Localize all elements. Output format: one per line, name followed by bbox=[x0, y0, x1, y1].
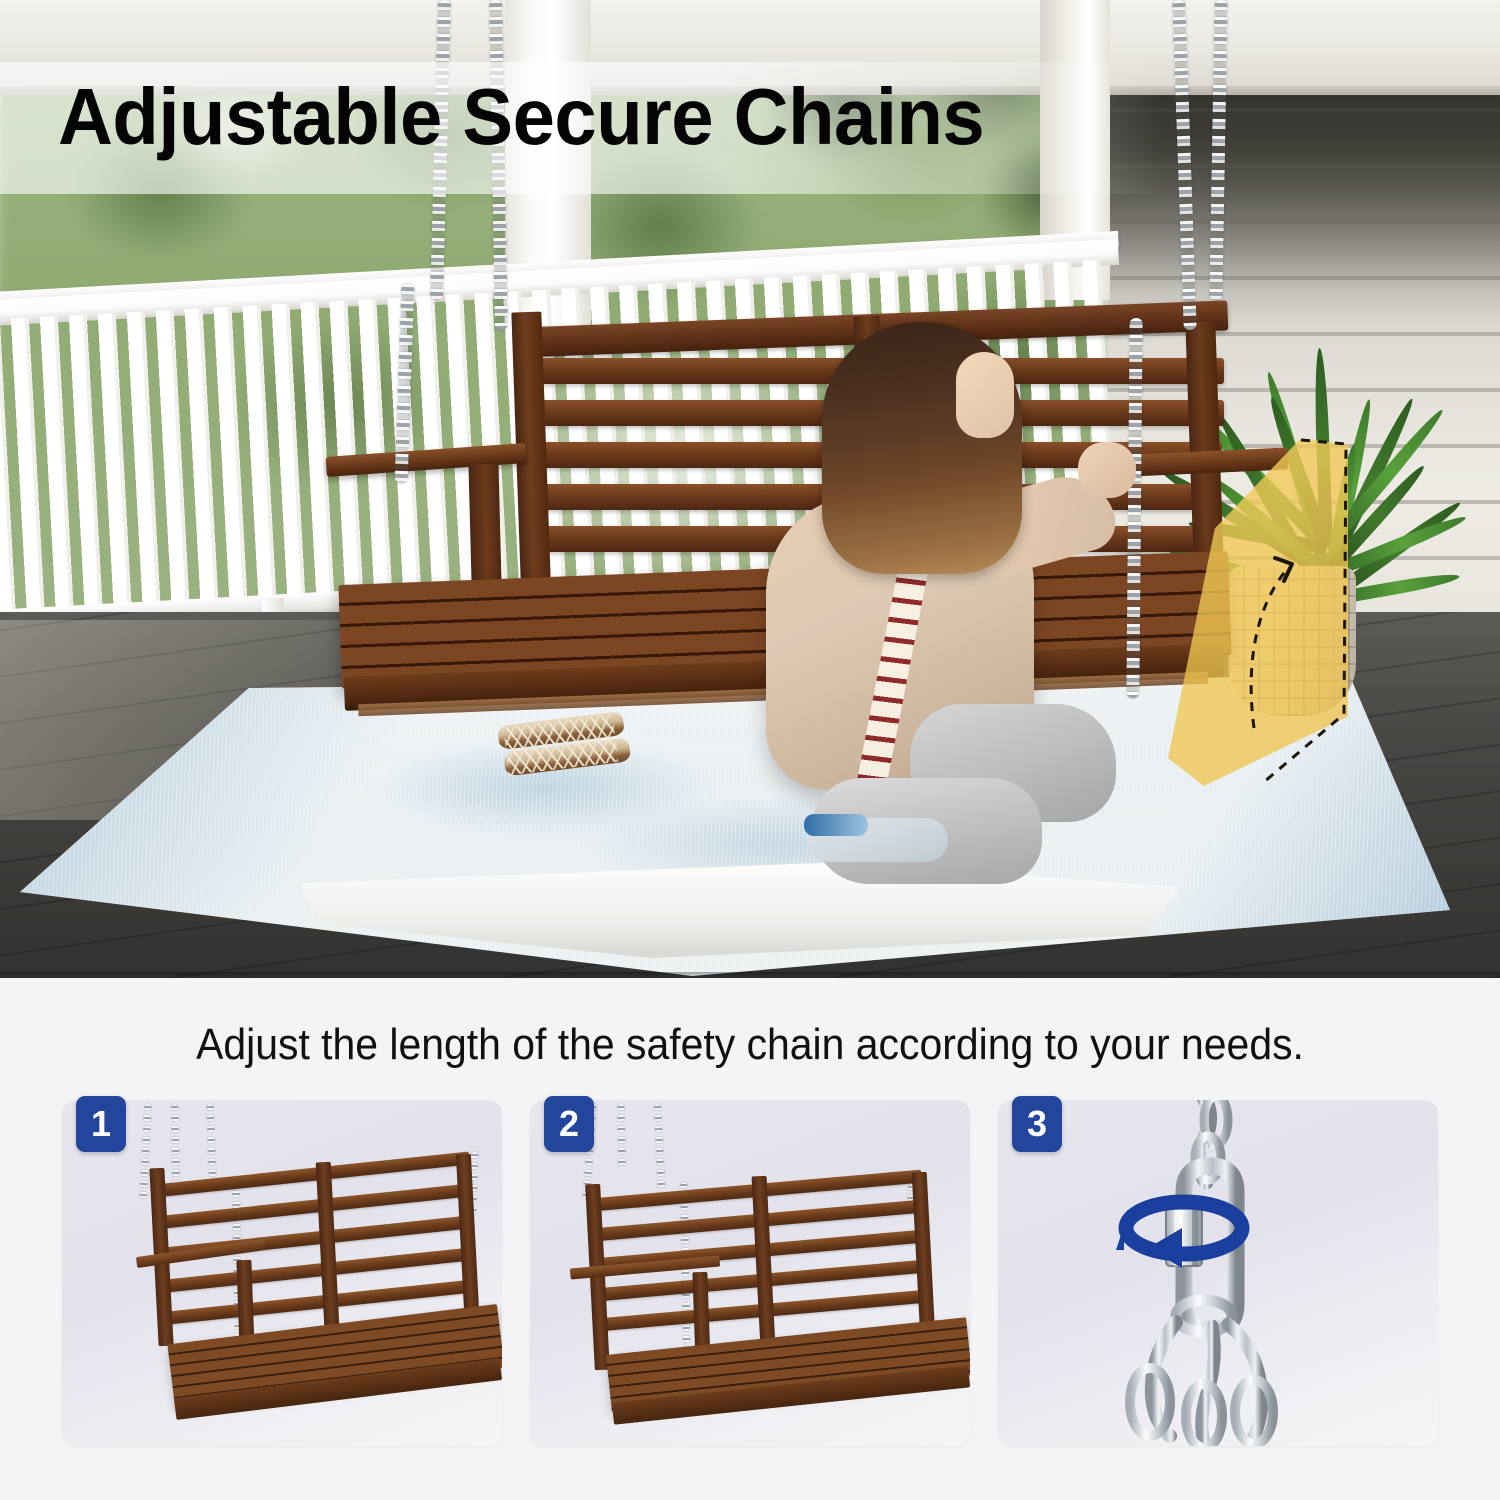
step-1-image bbox=[62, 1100, 502, 1446]
person-adjusting-chain bbox=[760, 318, 1120, 898]
instruction-section: Adjust the length of the safety chain ac… bbox=[0, 978, 1500, 1500]
product-marketing-image: Adjustable Secure Chains Adjust the leng… bbox=[0, 0, 1500, 1500]
mini-porch-swing bbox=[530, 1100, 970, 1446]
instruction-caption: Adjust the length of the safety chain ac… bbox=[53, 1020, 1448, 1070]
step-panel-2[interactable]: 2 bbox=[530, 1100, 970, 1446]
step-2-image bbox=[530, 1100, 970, 1446]
person-hand bbox=[1078, 442, 1136, 498]
carabiner-closeup bbox=[998, 1100, 1438, 1446]
hero-photo: Adjustable Secure Chains bbox=[0, 0, 1500, 978]
step-badge-3: 3 bbox=[1012, 1096, 1062, 1152]
mini-back-post-mid bbox=[752, 1176, 776, 1349]
person-face bbox=[956, 352, 1014, 438]
motion-dashed-outline bbox=[1168, 438, 1348, 786]
mini-back-post-right bbox=[912, 1172, 936, 1339]
step-panel-row: 1 bbox=[62, 1100, 1438, 1446]
swing-arm-support-left bbox=[468, 464, 501, 583]
step-panel-1[interactable]: 1 bbox=[62, 1100, 502, 1446]
mini-porch-swing bbox=[62, 1100, 502, 1446]
sock-stripe bbox=[804, 814, 868, 836]
page-title: Adjustable Secure Chains bbox=[58, 74, 984, 160]
step-3-image bbox=[998, 1100, 1438, 1446]
step-panel-3[interactable]: 3 bbox=[998, 1100, 1438, 1446]
step-badge-2: 2 bbox=[544, 1096, 594, 1152]
step-badge-1: 1 bbox=[76, 1096, 126, 1152]
